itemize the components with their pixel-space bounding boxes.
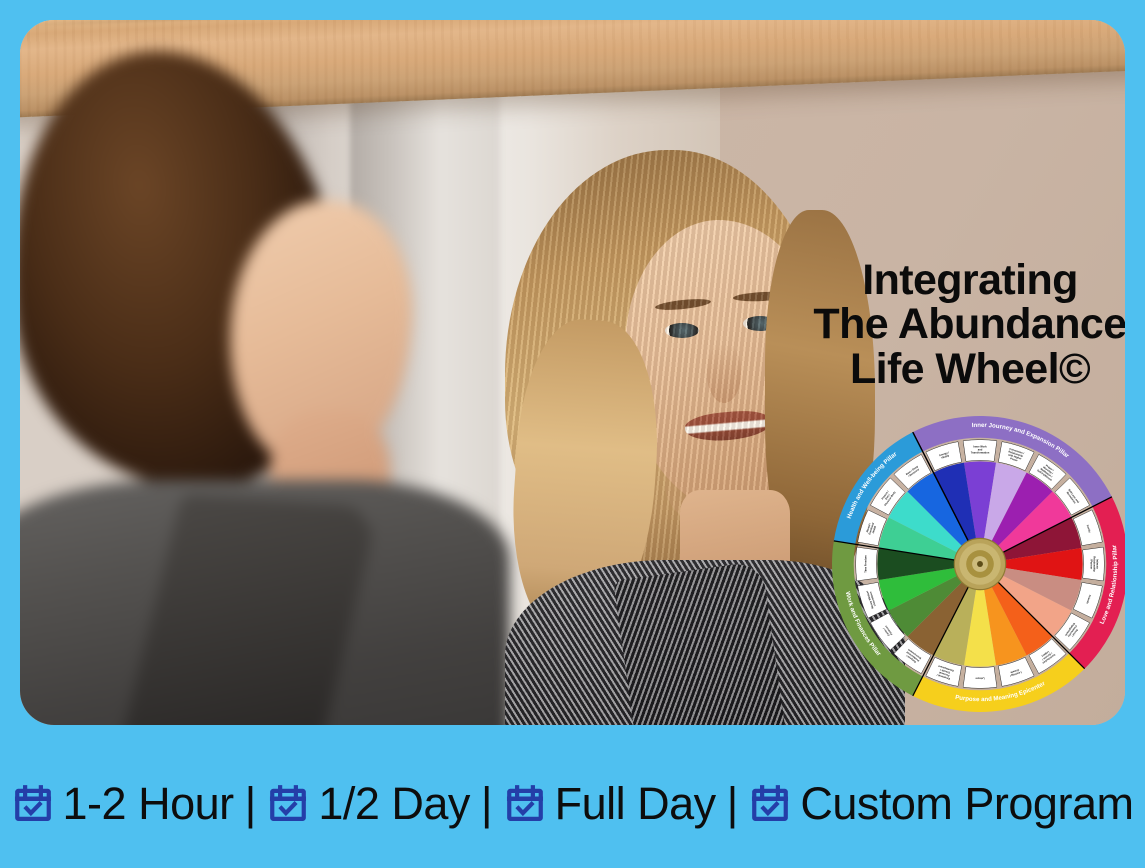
calendar-check-icon xyxy=(749,783,791,825)
duration-option-label: 1-2 Hour xyxy=(63,778,234,830)
calendar-check-icon xyxy=(12,783,54,825)
duration-option-label: Custom Program xyxy=(800,778,1133,830)
duration-option-label: Full Day xyxy=(555,778,716,830)
abundance-life-wheel-svg: Inner Journey and Expansion PillarLove a… xyxy=(832,416,1125,712)
foreground-woman-blurred xyxy=(20,50,500,725)
focus-woman-collar xyxy=(613,560,787,725)
headline-line-2: The Abundance xyxy=(790,302,1125,346)
option-separator: | xyxy=(727,778,739,830)
wheel-center-hub xyxy=(954,538,1005,589)
headline: Integrating The Abundance Life Wheel© xyxy=(790,258,1125,391)
duration-option[interactable]: Full Day xyxy=(504,778,716,830)
option-separator: | xyxy=(245,778,257,830)
wheel-segment-label: Leisure xyxy=(975,676,985,680)
option-separator: | xyxy=(481,778,493,830)
duration-option[interactable]: Custom Program xyxy=(749,778,1133,830)
calendar-check-icon xyxy=(267,783,309,825)
duration-option[interactable]: 1-2 Hour xyxy=(12,778,234,830)
wheel-segment-label: Time Freedom xyxy=(864,555,868,573)
headline-line-3: Life Wheel© xyxy=(790,347,1125,391)
abundance-life-wheel: Inner Journey and Expansion PillarLove a… xyxy=(832,416,1125,712)
hero-photo-card: Integrating The Abundance Life Wheel© In… xyxy=(20,20,1125,725)
headline-line-1: Integrating xyxy=(790,258,1125,302)
calendar-check-icon xyxy=(504,783,546,825)
program-duration-banner: 1-2 Hour| 1/2 Day| Full Day| Custom Prog… xyxy=(0,740,1145,868)
duration-option-label: 1/2 Day xyxy=(318,778,470,830)
duration-option[interactable]: 1/2 Day xyxy=(267,778,470,830)
poster-canvas: Integrating The Abundance Life Wheel© In… xyxy=(0,0,1145,868)
